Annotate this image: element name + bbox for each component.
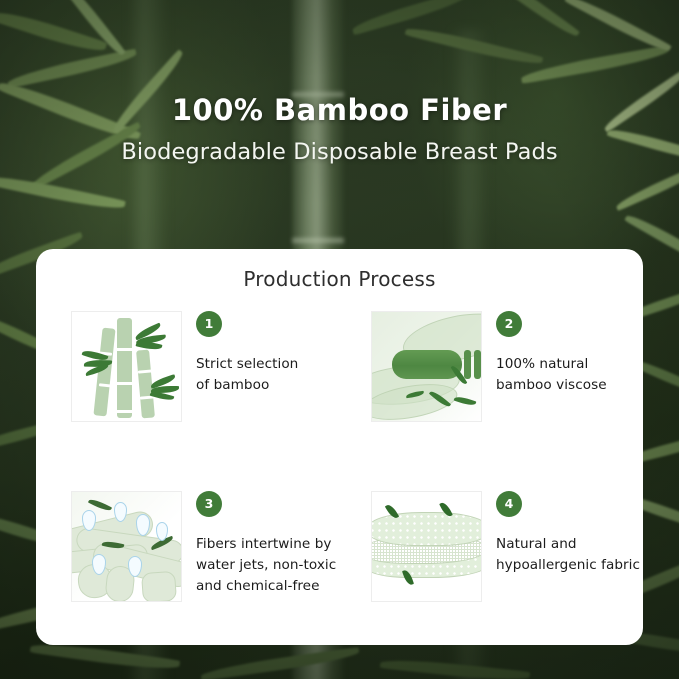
step-1-thumbnail — [71, 311, 182, 422]
bamboo-segment-icon — [372, 312, 481, 421]
step-2-badge: 2 — [496, 311, 522, 337]
hero-heading-group: 100% Bamboo Fiber Biodegradable Disposab… — [0, 92, 679, 166]
production-process-card: Production Process — [36, 249, 643, 645]
step-2-text-block: 2 100% natural bamboo viscose — [496, 309, 607, 396]
infographic-canvas: 100% Bamboo Fiber Biodegradable Disposab… — [0, 0, 679, 679]
page-title: 100% Bamboo Fiber — [0, 92, 679, 128]
process-step-3: 3 Fibers intertwine by water jets, non-t… — [36, 489, 339, 669]
step-4-badge: 4 — [496, 491, 522, 517]
water-jet-fibers-icon — [72, 492, 181, 601]
step-1-label: Strict selection of bamboo — [196, 354, 298, 396]
step-4-label: Natural and hypoallergenic fabric — [496, 534, 640, 576]
process-steps-grid: 1 Strict selection of bamboo — [36, 309, 643, 669]
page-subtitle: Biodegradable Disposable Breast Pads — [0, 138, 679, 166]
step-2-thumbnail — [371, 311, 482, 422]
process-step-2: 2 100% natural bamboo viscose — [339, 309, 642, 489]
step-3-text-block: 3 Fibers intertwine by water jets, non-t… — [196, 489, 336, 597]
step-2-label: 100% natural bamboo viscose — [496, 354, 607, 396]
step-3-label: Fibers intertwine by water jets, non-tox… — [196, 534, 336, 597]
step-4-text-block: 4 Natural and hypoallergenic fabric — [496, 489, 640, 576]
process-step-1: 1 Strict selection of bamboo — [36, 309, 339, 489]
card-title: Production Process — [36, 249, 643, 291]
step-1-text-block: 1 Strict selection of bamboo — [196, 309, 298, 396]
fabric-layers-icon — [372, 492, 481, 601]
step-3-thumbnail — [71, 491, 182, 602]
step-4-thumbnail — [371, 491, 482, 602]
step-1-badge: 1 — [196, 311, 222, 337]
step-3-badge: 3 — [196, 491, 222, 517]
bamboo-stalks-icon — [72, 312, 181, 421]
process-step-4: 4 Natural and hypoallergenic fabric — [339, 489, 642, 669]
